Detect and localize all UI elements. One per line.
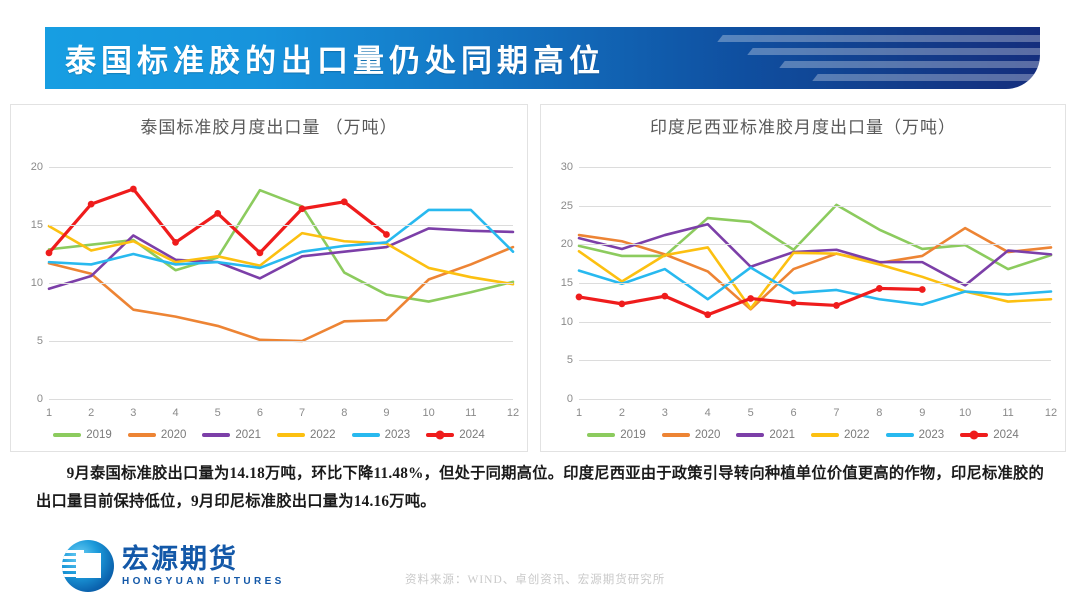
x-axis-tick-label: 2 (88, 407, 94, 419)
x-axis-tick-label: 12 (507, 407, 519, 419)
data-point-marker (214, 210, 221, 217)
legend-swatch-icon (662, 433, 690, 437)
legend-swatch-icon (886, 433, 914, 437)
chart-title-thailand: 泰国标准胶月度出口量 （万吨） (11, 113, 527, 138)
x-axis-tick-label: 4 (172, 407, 178, 419)
x-axis-tick-label: 7 (833, 407, 839, 419)
legend-label: 2022 (844, 429, 870, 441)
y-axis-tick-label: 20 (31, 161, 43, 173)
legend-item-2019[interactable]: 2019 (53, 429, 112, 441)
data-point-marker (661, 293, 668, 300)
data-point-marker (46, 249, 53, 256)
legend-swatch-icon (277, 433, 305, 437)
x-axis-tick-label: 9 (383, 407, 389, 419)
data-point-marker (833, 302, 840, 309)
x-axis-tick-label: 10 (959, 407, 971, 419)
legend-label: 2020 (161, 429, 187, 441)
y-axis-tick-label: 15 (561, 277, 573, 289)
company-logo: 宏源期货 HONGYUAN FUTURES (62, 540, 285, 592)
x-axis-tick-label: 1 (46, 407, 52, 419)
legend-label: 2021 (769, 429, 795, 441)
legend-label: 2024 (459, 429, 485, 441)
data-point-marker (790, 300, 797, 307)
y-axis-tick-label: 0 (567, 393, 573, 405)
x-axis-tick-label: 8 (876, 407, 882, 419)
gridline (579, 244, 1051, 245)
legend-swatch-icon (53, 433, 81, 437)
gridline (49, 341, 513, 342)
data-point-marker (383, 231, 390, 238)
data-point-marker (88, 201, 95, 208)
title-banner: 泰国标准胶的出口量仍处同期高位 (45, 27, 1040, 89)
series-line-2019 (49, 190, 513, 301)
legend-item-2024[interactable]: 2024 (426, 429, 485, 441)
x-axis-tick-label: 1 (576, 407, 582, 419)
x-axis-tick-label: 8 (341, 407, 347, 419)
gridline (49, 399, 513, 400)
x-axis-tick-label: 12 (1045, 407, 1057, 419)
banner-stripe (747, 48, 1040, 55)
x-axis-tick-label: 11 (1002, 407, 1013, 419)
y-axis-tick-label: 5 (37, 335, 43, 347)
legend-item-2020[interactable]: 2020 (128, 429, 187, 441)
legend-label: 2021 (235, 429, 261, 441)
legend-swatch-icon (736, 433, 764, 437)
data-point-marker (257, 249, 264, 256)
gridline (49, 225, 513, 226)
chart-panel-indonesia: 印度尼西亚标准胶月度出口量（万吨） 0510152025301234567891… (540, 104, 1066, 452)
x-axis-tick-label: 9 (919, 407, 925, 419)
legend-item-2024[interactable]: 2024 (960, 429, 1019, 441)
legend-label: 2019 (620, 429, 646, 441)
legend-swatch-icon (128, 433, 156, 437)
legend-item-2023[interactable]: 2023 (886, 429, 945, 441)
logo-text: 宏源期货 HONGYUAN FUTURES (122, 546, 285, 587)
commentary-paragraph: 9月泰国标准胶出口量为14.18万吨，环比下降11.48%，但处于同期高位。印度… (36, 460, 1044, 517)
legend-label: 2024 (993, 429, 1019, 441)
data-point-marker (619, 300, 626, 307)
x-axis-tick-label: 11 (465, 407, 476, 419)
x-axis-tick-label: 10 (423, 407, 435, 419)
x-axis-tick-label: 5 (748, 407, 754, 419)
legend-label: 2019 (86, 429, 112, 441)
data-point-marker (876, 285, 883, 292)
x-axis-tick-label: 6 (257, 407, 263, 419)
y-axis-tick-label: 0 (37, 393, 43, 405)
plot-area-indonesia: 051015202530123456789101112 (579, 167, 1051, 399)
legend-swatch-icon (426, 433, 454, 437)
data-point-marker (919, 286, 926, 293)
data-point-marker (299, 205, 306, 212)
y-axis-tick-label: 10 (31, 277, 43, 289)
x-axis-tick-label: 4 (705, 407, 711, 419)
gridline (579, 360, 1051, 361)
y-axis-tick-label: 30 (561, 161, 573, 173)
legend-swatch-icon (587, 433, 615, 437)
y-axis-tick-label: 25 (561, 200, 573, 212)
legend-label: 2023 (385, 429, 411, 441)
x-axis-tick-label: 3 (130, 407, 136, 419)
logo-name-cn: 宏源期货 (122, 546, 285, 573)
x-axis-tick-label: 7 (299, 407, 305, 419)
chart-panel-thailand: 泰国标准胶月度出口量 （万吨） 05101520123456789101112 … (10, 104, 528, 452)
gridline (579, 167, 1051, 168)
gridline (49, 283, 513, 284)
data-point-marker (172, 239, 179, 246)
chart-legend-thailand: 201920202021202220232024 (11, 429, 527, 441)
legend-swatch-icon (960, 433, 988, 437)
legend-label: 2020 (695, 429, 721, 441)
data-point-marker (341, 198, 348, 205)
banner-stripe (717, 35, 1040, 42)
legend-item-2020[interactable]: 2020 (662, 429, 721, 441)
y-axis-tick-label: 20 (561, 238, 573, 250)
banner-stripe (812, 74, 1040, 81)
legend-swatch-icon (352, 433, 380, 437)
legend-swatch-icon (202, 433, 230, 437)
x-axis-tick-label: 3 (662, 407, 668, 419)
y-axis-tick-label: 5 (567, 354, 573, 366)
gridline (579, 322, 1051, 323)
legend-item-2022[interactable]: 2022 (811, 429, 870, 441)
legend-item-2021[interactable]: 2021 (202, 429, 261, 441)
source-note: 资料来源：WIND、卓创资讯、宏源期货研究所 (405, 571, 665, 587)
data-point-marker (130, 186, 137, 193)
legend-swatch-icon (811, 433, 839, 437)
legend-item-2022[interactable]: 2022 (277, 429, 336, 441)
x-axis-tick-label: 6 (790, 407, 796, 419)
y-axis-tick-label: 15 (31, 219, 43, 231)
x-axis-tick-label: 5 (215, 407, 221, 419)
charts-container: 泰国标准胶月度出口量 （万吨） 05101520123456789101112 … (10, 104, 1070, 454)
page-title: 泰国标准胶的出口量仍处同期高位 (65, 36, 605, 81)
gridline (579, 206, 1051, 207)
banner-stripe (779, 61, 1040, 68)
gridline (49, 167, 513, 168)
data-point-marker (704, 311, 711, 318)
x-axis-tick-label: 2 (619, 407, 625, 419)
legend-label: 2022 (310, 429, 336, 441)
legend-label: 2023 (919, 429, 945, 441)
legend-item-2019[interactable]: 2019 (587, 429, 646, 441)
y-axis-tick-label: 10 (561, 316, 573, 328)
chart-title-indonesia: 印度尼西亚标准胶月度出口量（万吨） (541, 113, 1065, 138)
data-point-marker (747, 295, 754, 302)
legend-item-2021[interactable]: 2021 (736, 429, 795, 441)
gridline (579, 283, 1051, 284)
plot-area-thailand: 05101520123456789101112 (49, 167, 513, 399)
gridline (579, 399, 1051, 400)
data-point-marker (576, 294, 583, 301)
chart-legend-indonesia: 201920202021202220232024 (541, 429, 1065, 441)
series-line-2023 (49, 210, 513, 268)
logo-mark-icon (62, 540, 114, 592)
logo-name-en: HONGYUAN FUTURES (122, 577, 285, 587)
legend-item-2023[interactable]: 2023 (352, 429, 411, 441)
